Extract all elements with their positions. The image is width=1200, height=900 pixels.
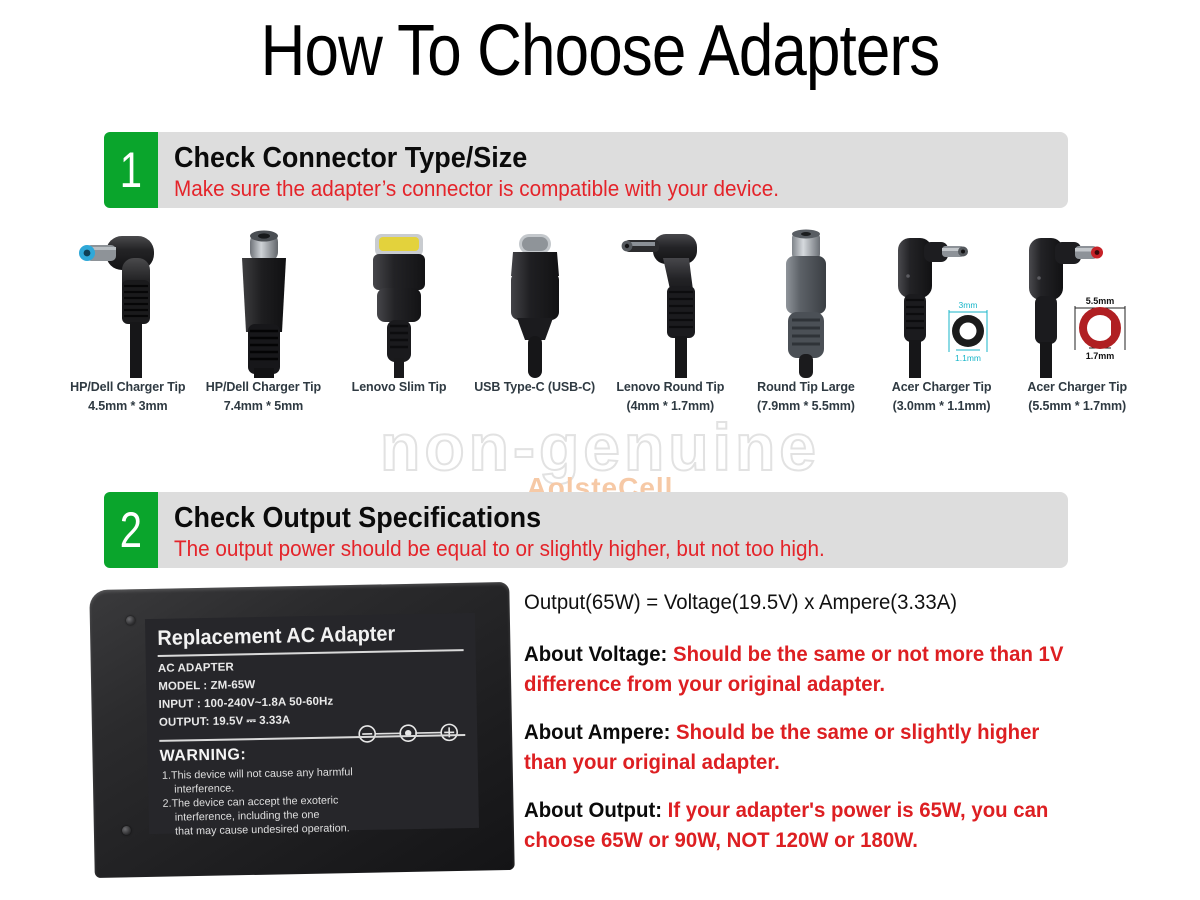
connector-size: (5.5mm * 1.7mm) (1028, 397, 1126, 416)
section-2-number-badge: 2 (104, 492, 158, 568)
connector-size: 7.4mm * 5mm (224, 397, 304, 416)
section-1-header: 1 Check Connector Type/Size Make sure th… (104, 132, 1068, 208)
connector-size: (3.0mm * 1.1mm) (893, 397, 991, 416)
about-output-lead: About Output: (524, 799, 662, 822)
svg-text:3mm: 3mm (958, 300, 977, 310)
connector-name: Round Tip Large (757, 378, 855, 397)
adapter-spec-line: MODEL : ZM-65W (158, 677, 255, 695)
connector-name: HP/Dell Charger Tip (206, 378, 321, 397)
output-formula: Output(65W) = Voltage(19.5V) x Ampere(3.… (524, 588, 1067, 618)
connector-item-acer-5.5x1.7[interactable]: 5.5mm 1.7mm Acer Charger Tip (5.5mm * 1.… (1009, 228, 1145, 438)
connector-size: (7.9mm * 5.5mm) (757, 397, 855, 416)
adapter-spec-line: AC ADAPTER (158, 659, 234, 676)
about-ampere-lead: About Ampere: (524, 721, 670, 744)
connector-name: Acer Charger Tip (1027, 378, 1127, 397)
polarity-symbol-icon (355, 721, 461, 745)
section-1-title: Check Connector Type/Size (174, 142, 1005, 175)
about-voltage-lead: About Voltage: (524, 643, 667, 666)
section-1-number: 1 (120, 132, 142, 208)
right-angle-slim-round-tip-connector-icon (603, 228, 739, 378)
right-angle-barrel-blue-tip-connector-icon (60, 228, 196, 378)
grey-straight-round-tip-large-connector-icon (738, 228, 874, 378)
section-1-number-badge: 1 (104, 132, 158, 208)
acer-right-angle-connector-with-measure-ring-icon: 3mm 1.1mm (874, 228, 1010, 378)
about-voltage: About Voltage: Should be the same or not… (524, 640, 1067, 700)
connector-item-hp-dell-4.5x3[interactable]: HP/Dell Charger Tip 4.5mm * 3mm (60, 228, 196, 438)
section-2-header: 2 Check Output Specifications The output… (104, 492, 1068, 568)
straight-barrel-metal-tip-connector-icon (196, 228, 332, 378)
section-2-number: 2 (120, 492, 142, 568)
connector-gallery: HP/Dell Charger Tip 4.5mm * 3mm (60, 228, 1145, 438)
adapter-spec-line: OUTPUT: 19.5V ⎓ 3.33A (159, 712, 291, 731)
connector-item-round-tip-large[interactable]: Round Tip Large (7.9mm * 5.5mm) (738, 228, 874, 438)
ac-adapter-photo: Replacement AC Adapter AC ADAPTER MODEL … (92, 578, 512, 883)
section-2-subtitle: The output power should be equal to or s… (174, 535, 1014, 563)
screw-dot (126, 616, 135, 625)
connector-name: Lenovo Round Tip (616, 378, 724, 397)
connector-name: Lenovo Slim Tip (352, 378, 447, 397)
connector-size: (4mm * 1.7mm) (627, 397, 715, 416)
adapter-brand-title: Replacement AC Adapter (157, 621, 395, 651)
about-ampere: About Ampere: Should be the same or slig… (524, 718, 1067, 778)
connector-item-acer-3.0x1.1[interactable]: 3mm 1.1mm Acer Charger Tip (3.0mm * 1.1m… (874, 228, 1010, 438)
adapter-label-panel: Replacement AC Adapter AC ADAPTER MODEL … (145, 613, 479, 834)
section-1-header-text: Check Connector Type/Size Make sure the … (158, 132, 1068, 208)
svg-text:5.5mm: 5.5mm (1086, 296, 1115, 306)
section-1-subtitle: Make sure the adapter’s connector is com… (174, 175, 1014, 203)
measure-ring-5.5mm: 5.5mm 1.7mm (1075, 296, 1125, 361)
lenovo-slim-rectangular-yellow-tip-connector-icon (331, 228, 467, 378)
connector-size: 4.5mm * 3mm (88, 397, 168, 416)
about-output: About Output: If your adapter's power is… (524, 796, 1067, 856)
section-2-title: Check Output Specifications (174, 502, 1005, 535)
section-2-header-text: Check Output Specifications The output p… (158, 492, 1068, 568)
screw-dot (122, 826, 131, 835)
adapter-warning-line: interference. (174, 782, 234, 797)
adapter-spec-line: INPUT : 100-240V~1.8A 50-60Hz (158, 694, 333, 713)
connector-item-hp-dell-7.4x5[interactable]: HP/Dell Charger Tip 7.4mm * 5mm (196, 228, 332, 438)
connector-name: Acer Charger Tip (892, 378, 992, 397)
usb-type-c-connector-icon (467, 228, 603, 378)
page-title: How To Choose Adapters (84, 8, 1116, 94)
connector-item-lenovo-round[interactable]: Lenovo Round Tip (4mm * 1.7mm) (603, 228, 739, 438)
connector-name: HP/Dell Charger Tip (70, 378, 185, 397)
connector-item-lenovo-slim[interactable]: Lenovo Slim Tip (331, 228, 467, 438)
adapter-warning-line: 1.This device will not cause any harmful (162, 765, 353, 783)
svg-text:1.7mm: 1.7mm (1086, 351, 1115, 361)
output-spec-text: Output(65W) = Voltage(19.5V) x Ampere(3.… (524, 588, 1084, 874)
connector-item-usb-c[interactable]: USB Type-C (USB-C) (467, 228, 603, 438)
measure-ring-3mm: 3mm 1.1mm (949, 300, 987, 363)
svg-text:1.1mm: 1.1mm (955, 353, 981, 363)
acer-right-angle-connector-red-tip-with-measure-ring-icon: 5.5mm 1.7mm (1009, 228, 1145, 378)
label-divider-top (158, 649, 464, 657)
adapter-warning-title: WARNING: (159, 745, 246, 767)
connector-name: USB Type-C (USB-C) (474, 378, 595, 397)
